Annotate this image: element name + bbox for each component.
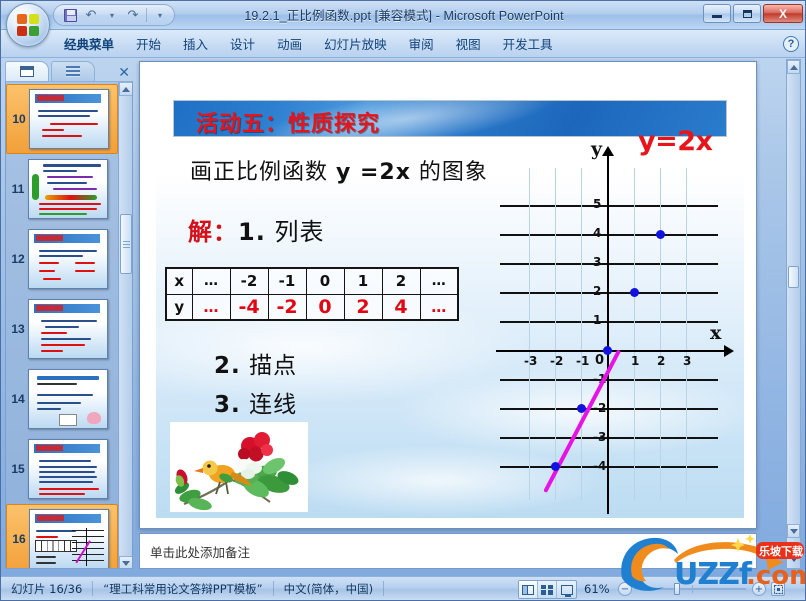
x-axis [496,350,728,352]
zoom-midpoint-mark [692,585,693,593]
thumbnail-number: 15 [8,462,28,476]
coordinate-graph[interactable]: y x -3 -2 -1 0 1 2 3 5 4 3 2 1 -1 -2 -3 … [496,132,734,514]
menu-item-design[interactable]: 设计 [219,31,266,56]
restore-button[interactable] [733,4,761,23]
cell-x-3: 0 [306,268,344,294]
thumbnail-image [28,159,108,219]
customize-qat-icon[interactable]: ▾ [152,7,168,23]
thumbnail-image [28,299,108,359]
slide-scroll-up-icon[interactable] [787,60,800,74]
help-icon[interactable]: ? [783,36,799,52]
cell-x-2: -1 [268,268,306,294]
thumbnail-number: 11 [8,182,28,196]
cell-y-header: y [166,294,192,320]
step3-number: 3. [214,392,241,418]
table-row-y: y … -4 -2 0 2 4 … [166,294,458,320]
slide-show-button[interactable] [557,581,576,598]
normal-view-icon [522,585,534,595]
y-tick-3: 3 [593,255,601,269]
thumbnail-image [28,369,108,429]
window-controls: X [703,4,803,23]
data-point-2-4 [656,230,665,239]
zoom-out-button[interactable]: − [618,582,632,596]
thumbnail-number: 10 [9,112,29,126]
gridline-x-2 [660,168,661,500]
y-tick-2: 2 [593,284,601,298]
scrollbar-thumb[interactable] [120,214,132,274]
step2-number: 2. [214,353,241,379]
slide-editing-area[interactable]: 活动五：性质探究 画正比例函数 y =2x 的图象 解：1. 列表 x … -2… [139,61,757,529]
undo-dropdown-icon[interactable]: ▾ [104,7,120,23]
cell-x-header: x [166,268,192,294]
y-tick--4: -4 [593,459,606,473]
notes-pane[interactable]: 单击此处添加备注 [139,533,757,569]
thumbnail-14[interactable]: 14 [6,364,118,434]
thumbnail-image [29,509,109,569]
cell-y-5: 4 [382,294,420,320]
slides-tab[interactable] [5,61,49,81]
y-axis-label: y [591,138,602,160]
language-indicator[interactable]: 中文(简体，中国) [274,577,383,601]
thumbnail-image [29,89,109,149]
slides-pane: ✕ 10 11 [5,59,133,569]
menu-item-developer[interactable]: 开发工具 [492,31,564,56]
slides-tab-icon [20,66,34,77]
cell-y-2: -2 [268,294,306,320]
line1-prefix: 画正比例函数 [190,160,336,185]
data-point--1--2 [577,404,586,413]
close-button[interactable]: X [763,4,803,23]
gridline-x-3 [686,168,687,500]
equation-label: y=2x [638,126,712,157]
y-tick--2: -2 [593,401,606,415]
menu-item-review[interactable]: 审阅 [398,31,445,56]
line1-suffix: 的图象 [411,160,488,185]
qat-separator [146,8,147,22]
y-tick-4: 4 [593,226,601,240]
step1-number: 1. [238,218,266,246]
cell-y-3: 0 [306,294,344,320]
quick-access-toolbar: ↶ ▾ ↷ ▾ [53,4,175,26]
slide-solution-line[interactable]: 解：1. 列表 [188,212,324,247]
slide-sorter-button[interactable] [538,581,557,598]
cell-y-6: … [420,294,458,320]
previous-slide-icon[interactable] [788,539,799,552]
close-pane-icon[interactable]: ✕ [118,65,130,79]
slide-step-2[interactable]: 2. 描点 [214,346,297,380]
y-tick--3: -3 [593,430,606,444]
thumbnail-list[interactable]: 10 11 [5,81,133,569]
cell-x-5: 2 [382,268,420,294]
thumbnail-11[interactable]: 11 [6,154,118,224]
cell-x-1: -2 [230,268,268,294]
powerpoint-window: 19.2.1_正比例函数.ppt [兼容模式] - Microsoft Powe… [0,0,806,601]
outline-tab[interactable] [51,61,95,81]
table-row-x: x … -2 -1 0 1 2 … [166,268,458,294]
next-slide-icon[interactable] [788,553,799,566]
minimize-icon [712,15,722,18]
status-separator-3 [383,581,384,596]
thumbnail-scrollbar[interactable] [118,82,132,569]
menu-item-insert[interactable]: 插入 [172,31,219,56]
cell-y-1: -4 [230,294,268,320]
y-tick-1: 1 [593,313,601,327]
x-tick-0: 0 [595,353,604,368]
menu-item-slideshow[interactable]: 幻灯片放映 [313,31,398,56]
gridline-x-m3 [529,168,530,500]
slide-canvas[interactable]: 活动五：性质探究 画正比例函数 y =2x 的图象 解：1. 列表 x … -2… [156,74,744,518]
view-buttons [518,580,577,599]
slide-counter[interactable]: 幻灯片 16/36 [1,577,92,601]
data-point--2--4 [551,462,560,471]
flower-bird-clipart[interactable] [170,422,308,512]
cell-x-6: … [420,268,458,294]
slide-show-icon [561,585,573,595]
thumbnail-image [28,229,108,289]
y-tick-5: 5 [593,197,601,211]
cell-y-4: 2 [344,294,382,320]
thumbnail-image [28,439,108,499]
menu-item-home[interactable]: 开始 [125,31,172,56]
theme-name[interactable]: “理工科常用论文答辩PPT模板” [93,577,272,601]
x-tick--3: -3 [524,354,537,368]
normal-view-button[interactable] [519,581,538,598]
thumbnail-number: 12 [8,252,28,266]
zoom-in-button[interactable]: + [752,582,766,596]
cell-x-4: 1 [344,268,382,294]
value-table[interactable]: x … -2 -1 0 1 2 … y … -4 -2 0 2 4 [165,267,459,321]
x-tick--2: -2 [550,354,563,368]
undo-icon[interactable]: ↶ [83,7,99,23]
outline-tab-icon [66,66,80,77]
zoom-level[interactable]: 61% [584,582,610,596]
thumbnail-number: 13 [8,322,28,336]
data-point-0-0 [603,346,612,355]
gridline-x-1 [634,168,635,500]
gridline-x-m1 [581,168,582,500]
flower-bird-icon [170,422,308,512]
zoom-handle[interactable] [674,583,680,595]
cell-x-0: … [192,268,230,294]
solution-label: 解： [188,218,238,246]
thumbnail-number: 14 [8,392,28,406]
thumbnail-15[interactable]: 15 [6,434,118,504]
slide-scrollbar[interactable] [786,59,801,569]
x-axis-arrow-icon [724,345,734,357]
slide-step-3[interactable]: 3. 连线 [214,385,297,419]
zoom-track [640,588,746,590]
status-bar: 幻灯片 16/36 “理工科常用论文答辩PPT模板” 中文(简体，中国) 61%… [1,576,806,600]
zoom-slider[interactable]: − + [618,583,768,595]
office-logo-icon [17,14,39,36]
thumbnail-16[interactable]: 16 [6,504,118,569]
pane-tab-strip: ✕ [5,59,133,81]
notes-placeholder: 单击此处添加备注 [140,534,756,561]
ribbon-tabs: 经典菜单 开始 插入 设计 动画 幻灯片放映 审阅 视图 开发工具 ? [1,30,806,58]
step1-text: 列表 [274,218,324,246]
y-axis [607,156,609,514]
step3-text: 连线 [249,392,297,418]
thumbnail-12[interactable]: 12 [6,224,118,294]
thumbnail-10[interactable]: 10 [6,84,118,154]
office-button[interactable] [6,3,50,47]
step2-text: 描点 [249,353,297,379]
slide-scroll-down-icon[interactable] [787,524,800,538]
fit-to-window-button[interactable] [771,582,785,596]
restore-icon [743,10,752,18]
menu-item-classic[interactable]: 经典菜单 [53,31,125,56]
thumbnail-number: 16 [9,532,29,546]
x-axis-label: x [710,322,721,344]
slide-scrollbar-thumb[interactable] [788,266,799,288]
fit-window-icon [774,585,783,594]
redo-icon[interactable]: ↷ [125,7,141,23]
x-tick-1: 1 [631,354,639,368]
scroll-up-icon[interactable] [119,82,133,96]
x-tick--1: -1 [576,354,589,368]
minimize-button[interactable] [703,4,731,23]
line1-formula: y =2x [336,160,411,185]
thumbnail-13[interactable]: 13 [6,294,118,364]
scroll-down-icon[interactable] [119,556,133,569]
x-tick-2: 2 [657,354,665,368]
y-axis-arrow-icon [602,146,614,156]
slide-sorter-icon [541,585,553,595]
x-tick-3: 3 [683,354,691,368]
menu-item-animation[interactable]: 动画 [266,31,313,56]
slide-line-1[interactable]: 画正比例函数 y =2x 的图象 [190,154,488,186]
save-icon[interactable] [62,7,78,23]
menu-item-view[interactable]: 视图 [445,31,492,56]
data-point-1-2 [630,288,639,297]
cell-y-0: … [192,294,230,320]
gridline-x-m2 [555,168,556,500]
